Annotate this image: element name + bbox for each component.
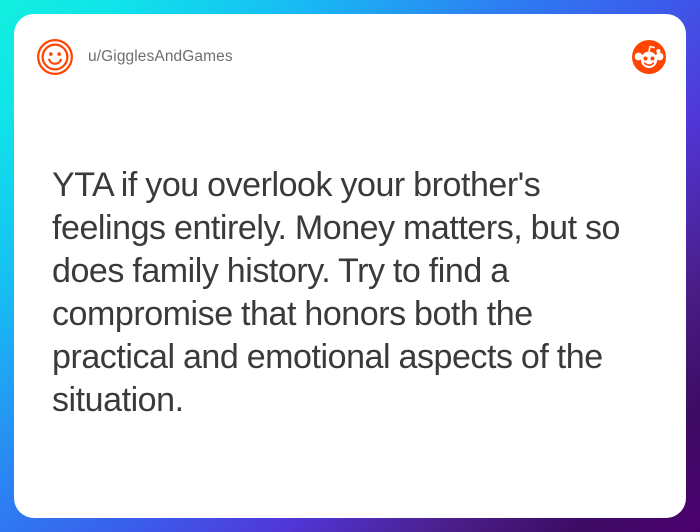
reddit-snoo-logo-icon[interactable] [632,40,666,74]
username-label: u/GigglesAndGames [88,48,233,66]
post-body: YTA if you overlook your brother's feeli… [52,164,660,422]
smiley-face-avatar-icon [36,38,74,76]
card-header: u/GigglesAndGames [14,14,686,100]
gradient-backdrop: u/GigglesAndGames [0,0,700,532]
reddit-quote-card: u/GigglesAndGames [14,14,686,518]
post-body-text: YTA if you overlook your brother's feeli… [52,164,660,422]
